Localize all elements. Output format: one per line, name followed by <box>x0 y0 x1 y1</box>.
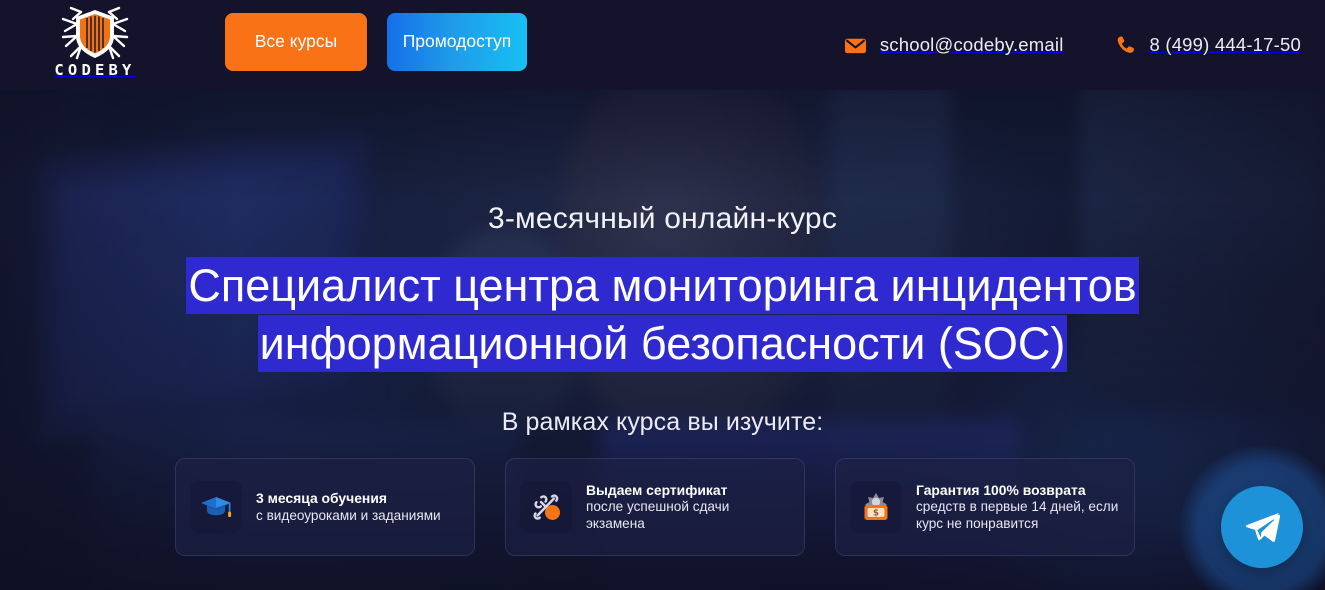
hero-content: 3-месячный онлайн-курс Специалист центра… <box>0 90 1325 590</box>
card-icon-container <box>520 481 572 533</box>
phone-link[interactable]: 8 (499) 444-17-50 <box>1114 34 1302 57</box>
card-title: 3 месяца обучения <box>256 490 441 506</box>
card-text: Гарантия 100% возврата средств в первые … <box>916 482 1120 532</box>
spider-shield-logo-icon <box>59 6 131 62</box>
email-link[interactable]: school@codeby.email <box>844 34 1064 57</box>
landing-page: CODEBY Все курсы Промодоступ school@code… <box>0 0 1325 590</box>
feature-card-list: 3 месяца обучения с видеоуроками и задан… <box>175 458 1135 556</box>
card-subtitle: средств в первые 14 дней, если курс не п… <box>916 499 1118 530</box>
page-title-line-2: информационной безопасности (SOC) <box>258 315 1068 372</box>
card-title: Выдаем сертификат <box>586 482 790 498</box>
hero-eyebrow: 3-месячный онлайн-курс <box>0 202 1325 236</box>
all-courses-button[interactable]: Все курсы <box>225 13 367 71</box>
telegram-chat-button[interactable] <box>1221 486 1303 568</box>
email-text: school@codeby.email <box>880 34 1064 56</box>
page-title: Специалист центра мониторинга инцидентов… <box>0 257 1325 373</box>
card-text: 3 месяца обучения с видеоуроками и задан… <box>256 490 441 523</box>
site-header: CODEBY Все курсы Промодоступ school@code… <box>0 0 1325 90</box>
page-title-line-1: Специалист центра мониторинга инцидентов <box>186 257 1138 314</box>
card-title: Гарантия 100% возврата <box>916 482 1120 498</box>
header-contacts: school@codeby.email 8 (499) 444-17-50 <box>844 0 1301 90</box>
feature-card-certificate: Выдаем сертификат после успешной сдачи э… <box>505 458 805 556</box>
phone-text: 8 (499) 444-17-50 <box>1150 34 1302 56</box>
graduation-cap-icon <box>198 489 234 525</box>
envelope-icon <box>844 34 867 57</box>
promo-access-button[interactable]: Промодоступ <box>387 13 527 71</box>
certificate-scroll-icon <box>528 489 564 525</box>
telegram-fab-container <box>1180 445 1325 590</box>
hero-subtitle: В рамках курса вы изучите: <box>0 408 1325 437</box>
card-text: Выдаем сертификат после успешной сдачи э… <box>586 482 790 532</box>
telegram-paper-plane-icon <box>1243 507 1283 547</box>
card-subtitle: с видеоуроками и заданиями <box>256 508 441 523</box>
feature-card-money-back: $ Гарантия 100% возврата средств в первы… <box>835 458 1135 556</box>
feature-card-duration: 3 месяца обучения с видеоуроками и задан… <box>175 458 475 556</box>
phone-icon <box>1114 34 1137 57</box>
card-icon-container: $ <box>850 481 902 533</box>
money-back-icon: $ <box>858 489 894 525</box>
svg-text:$: $ <box>873 508 879 518</box>
card-subtitle: после успешной сдачи экзамена <box>586 499 729 530</box>
site-logo[interactable]: CODEBY <box>36 6 154 84</box>
hero-section: 3-месячный онлайн-курс Специалист центра… <box>0 90 1325 590</box>
logo-wordmark: CODEBY <box>54 63 135 79</box>
card-icon-container <box>190 481 242 533</box>
